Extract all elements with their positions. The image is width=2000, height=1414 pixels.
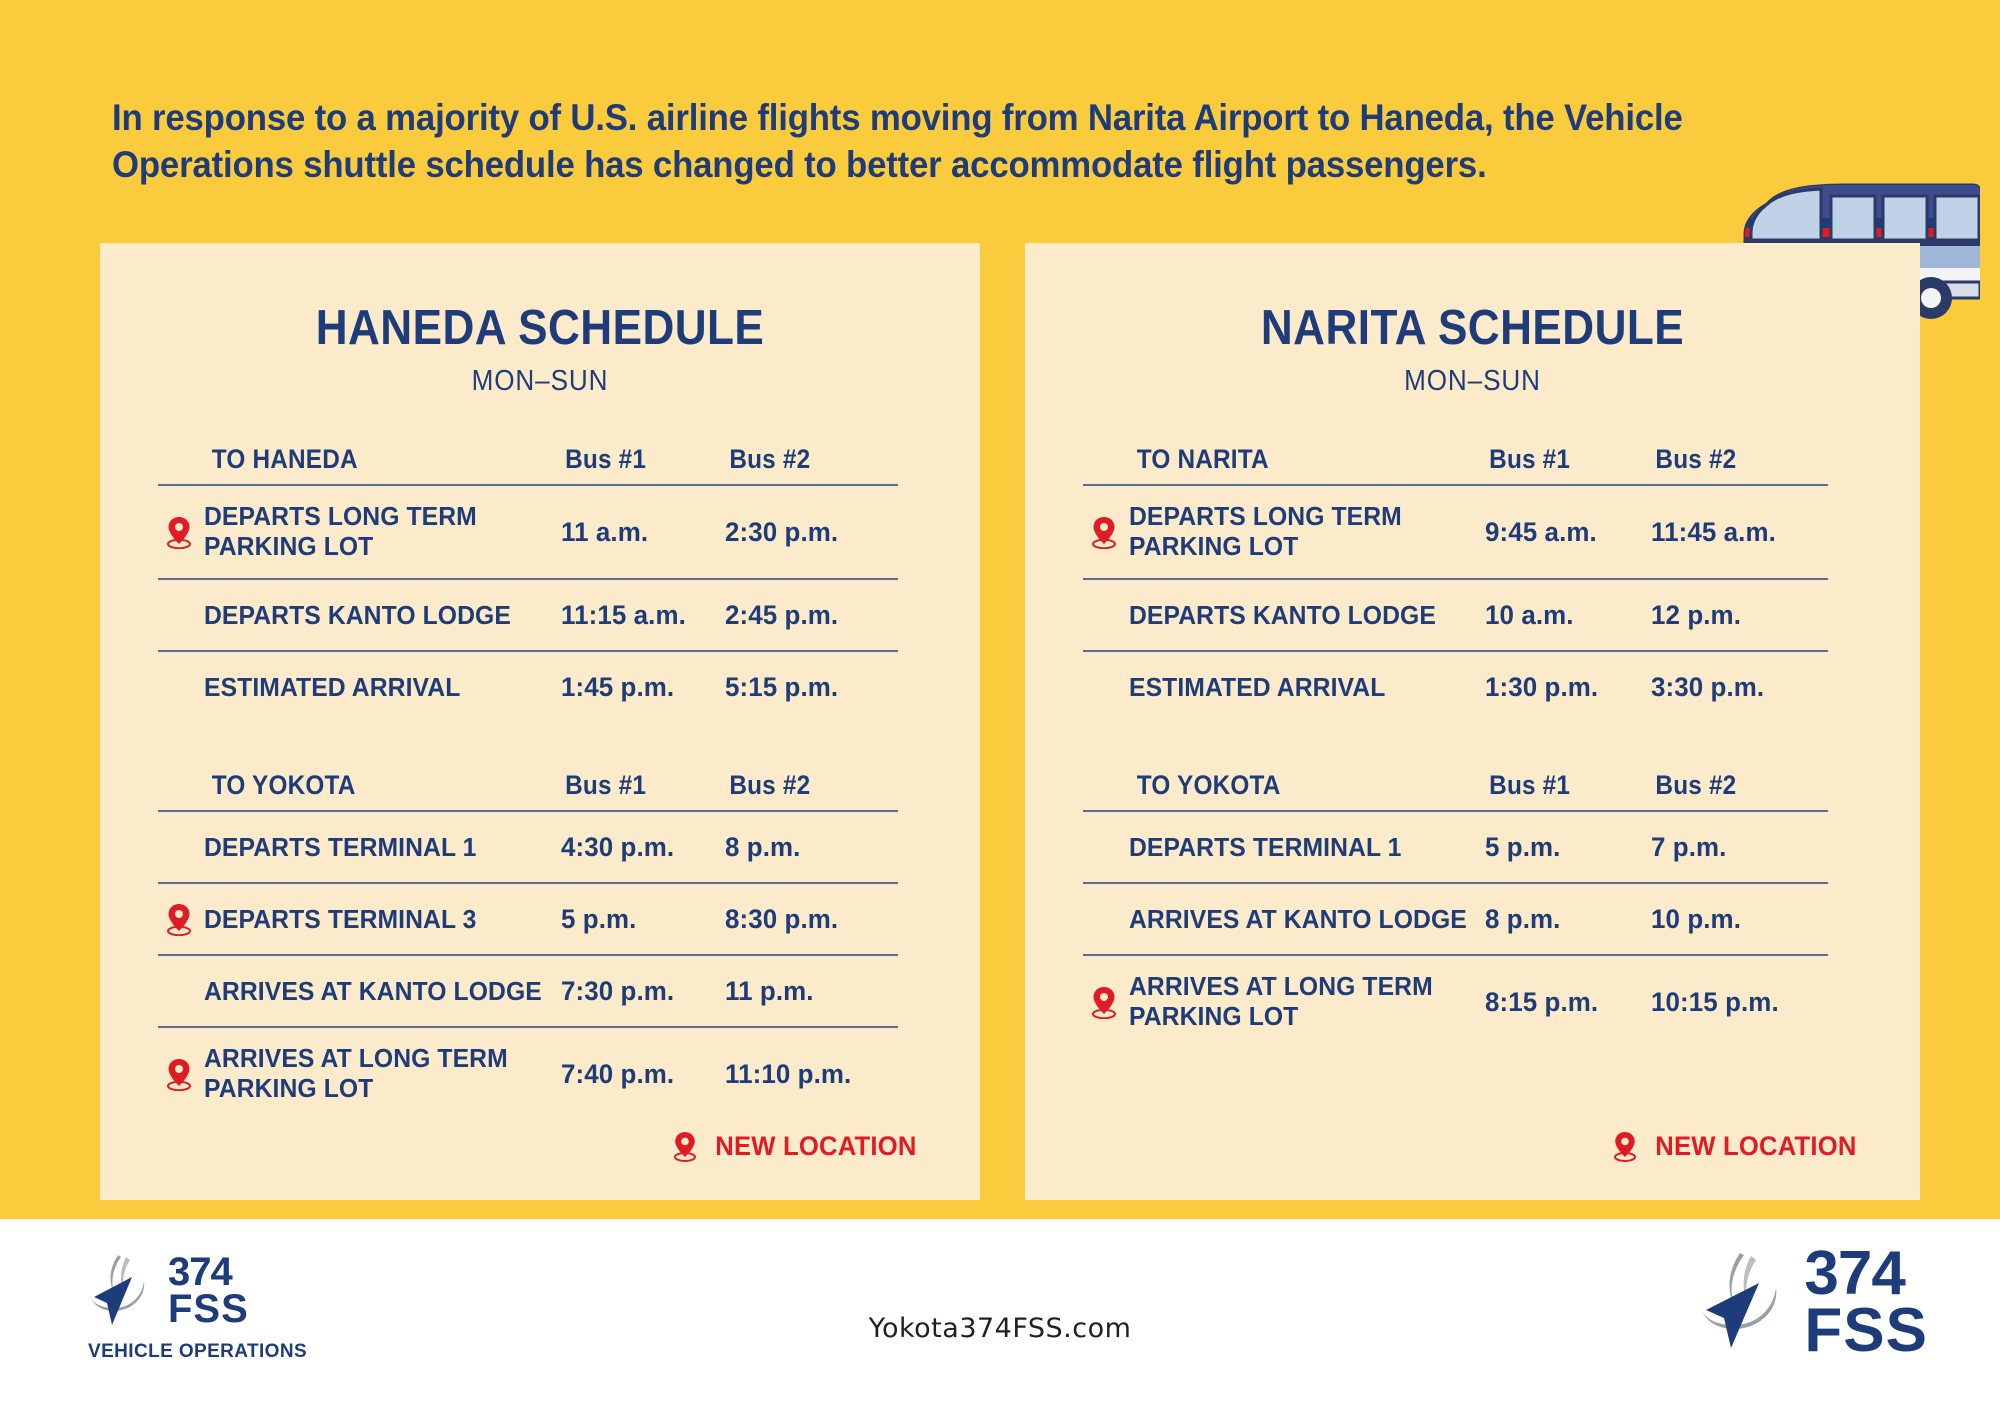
row-bus2-time: 7 p.m. <box>1651 832 1726 863</box>
row-bus1-time: 1:30 p.m. <box>1485 672 1598 703</box>
narita-schedule-table: TO NARITA Bus #1 Bus #2 <box>1083 444 1828 1048</box>
table-row: ESTIMATED ARRIVAL 1:30 p.m. 3:30 p.m. <box>1083 651 1828 722</box>
row-bus1-time: 1:45 p.m. <box>561 672 674 703</box>
row-label: DEPARTS TERMINAL 1 <box>204 833 477 862</box>
row-label: ESTIMATED ARRIVAL <box>204 673 460 702</box>
row-label: ARRIVES AT KANTO LODGE <box>204 977 542 1006</box>
row-bus2-time: 10:15 p.m. <box>1651 987 1779 1018</box>
map-pin-icon <box>164 902 194 936</box>
map-pin-icon <box>1089 985 1119 1019</box>
row-bus1-time: 7:40 p.m. <box>561 1059 674 1090</box>
row-bus2-time: 10 p.m. <box>1651 904 1741 935</box>
panel-narita: NARITA SCHEDULE MON–SUN TO NARITA Bus #1… <box>1025 243 1920 1200</box>
row-label: DEPARTS LONG TERM PARKING LOT <box>204 502 543 560</box>
section-spacer <box>1083 722 1828 770</box>
row-bus1-time: 10 a.m. <box>1485 600 1574 631</box>
row-bus1-time: 5 p.m. <box>561 904 636 935</box>
poster-canvas: In response to a majority of U.S. airlin… <box>0 0 2000 1414</box>
section-heading: TO HANEDA <box>212 444 358 475</box>
legend-new-location: NEW LOCATION <box>1611 1130 1862 1162</box>
table-row: DEPARTS TERMINAL 1 4:30 p.m. 8 p.m. <box>158 811 898 883</box>
intro-headline: In response to a majority of U.S. airlin… <box>112 94 1813 189</box>
table-row: ARRIVES AT LONG TERM PARKING LOT 7:40 p.… <box>158 1027 898 1120</box>
row-label: ARRIVES AT LONG TERM PARKING LOT <box>204 1044 543 1102</box>
row-bus2-time: 11 p.m. <box>725 976 814 1007</box>
column-header-bus1: Bus #1 <box>565 770 646 801</box>
table-row: DEPARTS LONG TERM PARKING LOT 9:45 a.m. … <box>1083 485 1828 579</box>
row-bus2-time: 11:10 p.m. <box>725 1059 851 1090</box>
table-row: DEPARTS LONG TERM PARKING LOT 11 a.m. 2:… <box>158 485 898 579</box>
row-bus2-time: 2:45 p.m. <box>725 600 838 631</box>
row-bus2-time: 8 p.m. <box>725 832 800 863</box>
column-header-bus1: Bus #1 <box>1489 770 1570 801</box>
column-header-bus2: Bus #2 <box>729 444 810 475</box>
table-row: ESTIMATED ARRIVAL 1:45 p.m. 5:15 p.m. <box>158 651 898 722</box>
logo-374-fss: 374 FSS <box>1698 1245 1928 1359</box>
legend-new-location: NEW LOCATION <box>671 1130 922 1162</box>
row-label: ARRIVES AT LONG TERM PARKING LOT <box>1129 972 1467 1030</box>
column-header-bus2: Bus #2 <box>1656 444 1737 475</box>
section-heading: TO NARITA <box>1137 444 1269 475</box>
column-header-bus1: Bus #1 <box>565 444 646 475</box>
panel-haneda: HANEDA SCHEDULE MON–SUN TO HANEDA Bus #1… <box>100 243 980 1200</box>
map-pin-icon <box>164 515 194 549</box>
logo-tagline: VEHICLE OPERATIONS <box>88 1341 307 1363</box>
row-label: DEPARTS KANTO LODGE <box>204 601 511 630</box>
legend-label: NEW LOCATION <box>715 1131 916 1162</box>
section-header-row: TO YOKOTA Bus #1 Bus #2 <box>1083 770 1828 811</box>
row-bus2-time: 12 p.m. <box>1651 600 1741 631</box>
section-header-row: TO HANEDA Bus #1 Bus #2 <box>158 444 898 485</box>
panel-narita-subtitle: MON–SUN <box>1070 365 1876 398</box>
table-row: DEPARTS TERMINAL 1 5 p.m. 7 p.m. <box>1083 811 1828 883</box>
row-bus2-time: 11:45 a.m. <box>1651 517 1776 548</box>
row-bus1-time: 11 a.m. <box>561 517 648 548</box>
table-row: ARRIVES AT LONG TERM PARKING LOT 8:15 p.… <box>1083 955 1828 1048</box>
column-header-bus2: Bus #2 <box>729 770 810 801</box>
map-pin-icon <box>671 1130 699 1162</box>
legend-label: NEW LOCATION <box>1655 1131 1856 1162</box>
row-bus1-time: 11:15 a.m. <box>561 600 686 631</box>
row-bus2-time: 2:30 p.m. <box>725 517 838 548</box>
panel-narita-title: NARITA SCHEDULE <box>1070 300 1876 356</box>
schedule-panels: HANEDA SCHEDULE MON–SUN TO HANEDA Bus #1… <box>100 243 1920 1200</box>
row-bus1-time: 9:45 a.m. <box>1485 517 1597 548</box>
haneda-schedule-table: TO HANEDA Bus #1 Bus #2 <box>158 444 898 1120</box>
row-bus2-time: 3:30 p.m. <box>1651 672 1764 703</box>
row-bus1-time: 8:15 p.m. <box>1485 987 1598 1018</box>
logo-org: FSS <box>1804 1296 1928 1365</box>
panel-haneda-subtitle: MON–SUN <box>144 365 936 398</box>
row-bus1-time: 4:30 p.m. <box>561 832 674 863</box>
row-label: DEPARTS TERMINAL 1 <box>1129 833 1402 862</box>
table-row: ARRIVES AT KANTO LODGE 8 p.m. 10 p.m. <box>1083 883 1828 955</box>
column-header-bus1: Bus #1 <box>1489 444 1570 475</box>
section-heading: TO YOKOTA <box>1137 770 1281 801</box>
table-row: ARRIVES AT KANTO LODGE 7:30 p.m. 11 p.m. <box>158 955 898 1027</box>
footer-bar: 374 FSS VEHICLE OPERATIONS Yokota374FSS.… <box>0 1219 2000 1414</box>
map-pin-icon <box>1611 1130 1639 1162</box>
map-pin-icon <box>1089 515 1119 549</box>
column-header-bus2: Bus #2 <box>1656 770 1737 801</box>
row-label: ARRIVES AT KANTO LODGE <box>1129 905 1467 934</box>
fss-swoosh-icon <box>1698 1250 1790 1354</box>
section-spacer <box>158 722 898 770</box>
row-label: ESTIMATED ARRIVAL <box>1129 673 1385 702</box>
row-bus2-time: 5:15 p.m. <box>725 672 838 703</box>
row-label: DEPARTS TERMINAL 3 <box>204 905 477 934</box>
table-row: DEPARTS KANTO LODGE 10 a.m. 12 p.m. <box>1083 579 1828 651</box>
logo-374-fss-vehicle-operations: 374 FSS VEHICLE OPERATIONS <box>88 1253 307 1363</box>
row-bus1-time: 5 p.m. <box>1485 832 1560 863</box>
section-header-row: TO NARITA Bus #1 Bus #2 <box>1083 444 1828 485</box>
panel-haneda-title: HANEDA SCHEDULE <box>144 300 936 356</box>
row-label: DEPARTS LONG TERM PARKING LOT <box>1129 502 1467 560</box>
table-row: DEPARTS TERMINAL 3 5 p.m. 8:30 p.m. <box>158 883 898 955</box>
section-header-row: TO YOKOTA Bus #1 Bus #2 <box>158 770 898 811</box>
row-bus1-time: 8 p.m. <box>1485 904 1560 935</box>
row-bus1-time: 7:30 p.m. <box>561 976 674 1007</box>
section-heading: TO YOKOTA <box>212 770 356 801</box>
row-label: DEPARTS KANTO LODGE <box>1129 601 1436 630</box>
table-row: DEPARTS KANTO LODGE 11:15 a.m. 2:45 p.m. <box>158 579 898 651</box>
map-pin-icon <box>164 1057 194 1091</box>
row-bus2-time: 8:30 p.m. <box>725 904 838 935</box>
